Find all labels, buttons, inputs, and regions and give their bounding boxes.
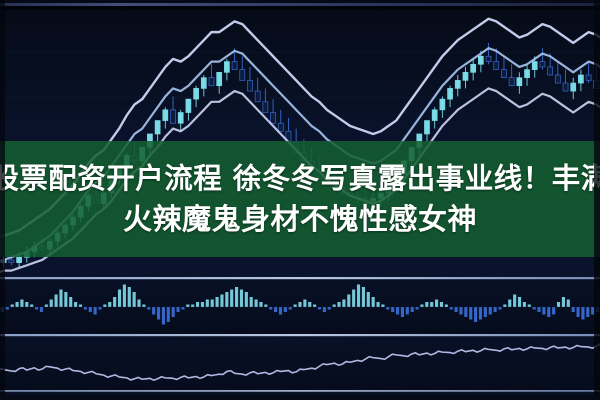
- bottom-edge-vignette: [0, 395, 600, 400]
- panel-separator-top: [0, 277, 600, 279]
- chart-background-image: 股票配资开户流程 徐冬冬写真露出事业线！丰满 火辣魔鬼身材不愧性感女神: [0, 0, 600, 400]
- right-edge-vignette: [594, 0, 600, 400]
- headline-banner: 股票配资开户流程 徐冬冬写真露出事业线！丰满 火辣魔鬼身材不愧性感女神: [0, 141, 600, 257]
- trend-panel-background: [0, 338, 600, 392]
- panel-separator-middle: [0, 334, 600, 336]
- top-frame-shadow: [0, 6, 600, 10]
- left-edge-vignette: [0, 0, 5, 400]
- headline-line-1: 股票配资开户流程 徐冬冬写真露出事业线！丰满: [0, 159, 600, 199]
- panel-separator-bottom: [0, 390, 600, 392]
- headline-line-2: 火辣魔鬼身材不愧性感女神: [123, 199, 477, 239]
